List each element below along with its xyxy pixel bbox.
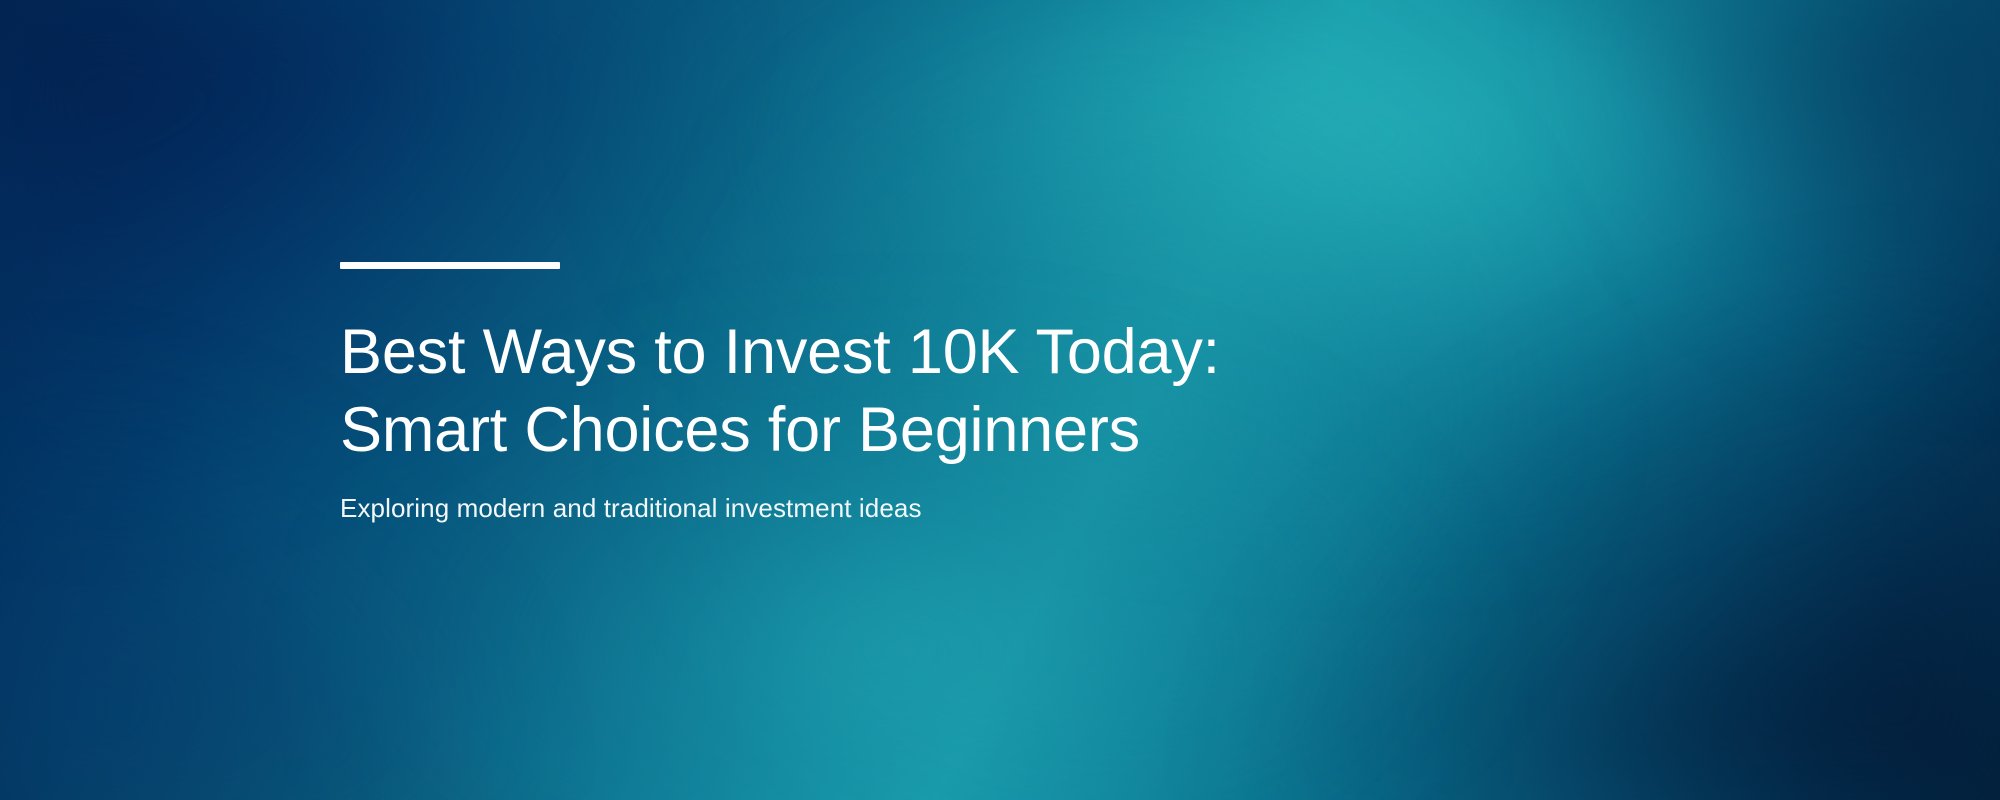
page-title-line-1: Best Ways to Invest 10K Today: [340,313,1440,391]
page-title: Best Ways to Invest 10K Today: Smart Cho… [340,313,1440,469]
hero-banner: Best Ways to Invest 10K Today: Smart Cho… [0,0,2000,800]
accent-rule [340,262,560,269]
page-title-line-2: Smart Choices for Beginners [340,391,1440,469]
page-subtitle: Exploring modern and traditional investm… [340,491,1440,525]
hero-text-block: Best Ways to Invest 10K Today: Smart Cho… [340,262,1440,525]
